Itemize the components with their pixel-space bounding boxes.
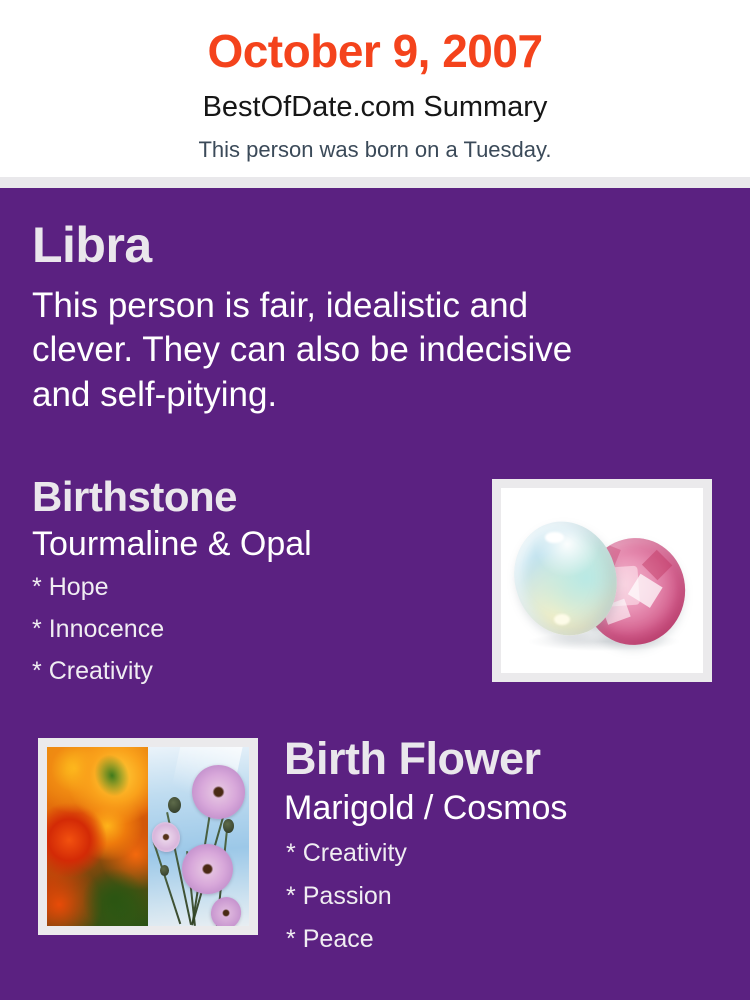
list-item: *Hope [32, 575, 462, 617]
content-panel: Libra This person is fair, idealistic an… [0, 188, 750, 1000]
birthstone-image-frame [492, 479, 712, 682]
birthstone-trait-label: Innocence [49, 615, 164, 643]
birth-flower-section: Birth Flower Marigold / Cosmos *Creativi… [284, 736, 704, 970]
birthstone-trait-label: Hope [49, 573, 109, 601]
birth-flower-image [47, 747, 249, 926]
list-item: *Creativity [32, 659, 462, 701]
birthstone-name: Tourmaline & Opal [32, 518, 462, 561]
cosmos-bloom [207, 894, 244, 926]
page-title: October 9, 2007 [0, 0, 750, 74]
zodiac-description: This person is fair, idealistic and clev… [32, 270, 612, 417]
bullet-star-icon: * [286, 925, 296, 953]
flower-bud [160, 865, 169, 876]
zodiac-name: Libra [32, 220, 632, 270]
bullet-star-icon: * [32, 657, 42, 685]
list-item: *Peace [286, 927, 704, 970]
birth-flower-trait-label: Peace [303, 925, 374, 953]
header-divider [0, 177, 750, 188]
birthstone-section: Birthstone Tourmaline & Opal *Hope *Inno… [32, 476, 462, 701]
summary-page: October 9, 2007 BestOfDate.com Summary T… [0, 0, 750, 1000]
bullet-star-icon: * [32, 615, 42, 643]
birth-flower-trait-list: *Creativity *Passion *Peace [284, 825, 704, 970]
site-subtitle: BestOfDate.com Summary [0, 74, 750, 122]
cosmos-bloom [180, 841, 235, 896]
opal-highlight [554, 614, 570, 625]
foliage [89, 750, 136, 802]
flower-bud [223, 819, 234, 833]
birth-flower-heading: Birth Flower [284, 736, 704, 781]
list-item: *Innocence [32, 617, 462, 659]
born-day-text: This person was born on a Tuesday. [0, 122, 750, 161]
gem-facet [641, 550, 672, 581]
bullet-star-icon: * [286, 882, 296, 910]
page-header: October 9, 2007 BestOfDate.com Summary T… [0, 0, 750, 177]
bullet-star-icon: * [32, 573, 42, 601]
cosmos-bloom [148, 819, 184, 856]
birthstone-trait-label: Creativity [49, 657, 153, 685]
birthstone-heading: Birthstone [32, 476, 462, 518]
birth-flower-trait-label: Passion [303, 882, 392, 910]
list-item: *Passion [286, 884, 704, 927]
birth-flower-image-frame [38, 738, 258, 935]
bullet-star-icon: * [286, 839, 296, 867]
birth-flower-name: Marigold / Cosmos [284, 781, 704, 825]
cosmos-photo [148, 747, 249, 926]
birth-flower-trait-label: Creativity [303, 839, 407, 867]
birthstone-trait-list: *Hope *Innocence *Creativity [32, 561, 462, 701]
list-item: *Creativity [286, 841, 704, 884]
zodiac-section: Libra This person is fair, idealistic an… [32, 220, 632, 417]
marigold-photo [47, 747, 148, 926]
birthstone-image [501, 488, 703, 673]
foliage [83, 869, 146, 926]
